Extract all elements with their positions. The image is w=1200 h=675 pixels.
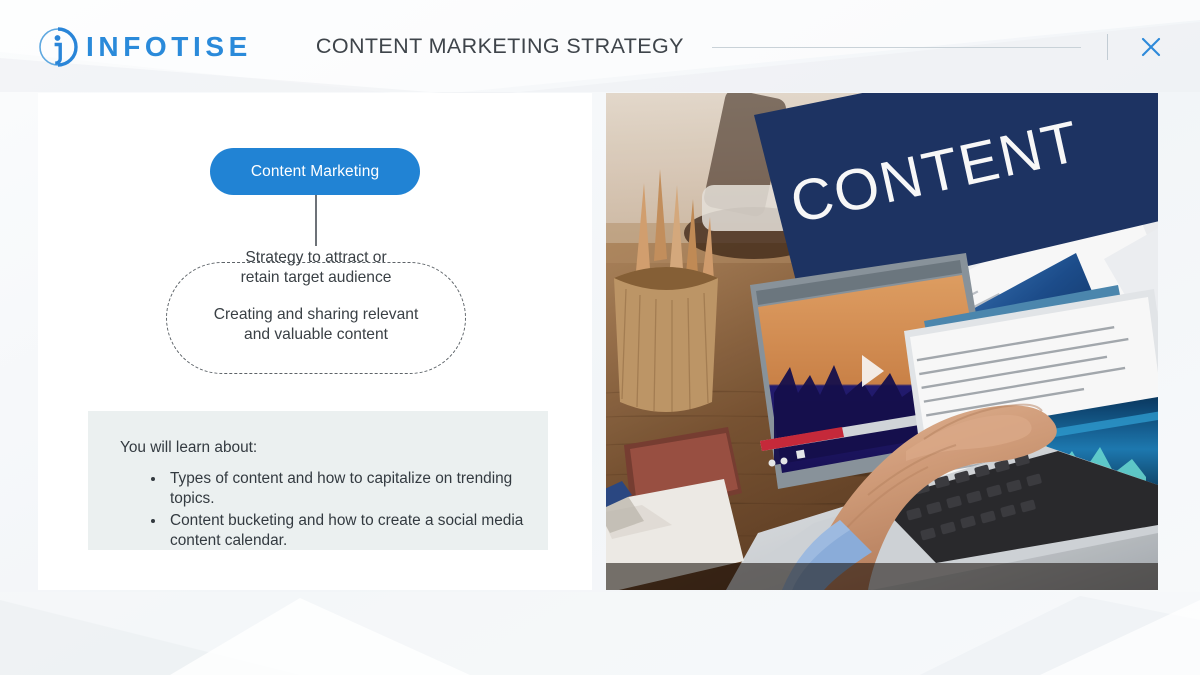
diagram-description: Strategy to attract or retain target aud… <box>166 248 466 345</box>
infotise-i-circle-icon <box>36 25 80 69</box>
laptop-desk-photo: CONTENT World Stock Market <box>606 93 1158 590</box>
slide-photo: CONTENT World Stock Market <box>606 93 1158 590</box>
content-marketing-pill[interactable]: Content Marketing <box>210 148 420 195</box>
brand-logo[interactable]: INFOTISE <box>36 25 252 69</box>
blob-line-3: Creating and sharing relevant <box>166 305 466 325</box>
learning-objectives-heading: You will learn about: <box>120 439 257 457</box>
blob-line-4: and valuable content <box>166 325 466 345</box>
learning-objectives-box: You will learn about: Types of content a… <box>88 411 548 550</box>
close-icon <box>1140 36 1162 58</box>
list-item: Content bucketing and how to create a so… <box>166 511 528 552</box>
header-divider-line <box>712 47 1081 48</box>
header-title: CONTENT MARKETING STRATEGY <box>316 34 684 59</box>
header-vertical-separator <box>1107 34 1108 60</box>
brand-name: INFOTISE <box>86 33 252 61</box>
diagram-connector-line <box>315 195 317 246</box>
slide-footer: INTRODUCTION TO CONTENT MARKETING ❮ BACK… <box>0 590 1200 675</box>
blob-line-2: retain target audience <box>166 268 466 288</box>
close-button[interactable] <box>1134 30 1168 64</box>
list-item: Types of content and how to capitalize o… <box>166 469 528 510</box>
learning-objectives-list: Types of content and how to capitalize o… <box>148 469 528 553</box>
slide-content-card: Content Marketing Strategy to attract or… <box>38 93 592 590</box>
app-header: INFOTISE CONTENT MARKETING STRATEGY <box>0 0 1200 93</box>
blob-line-1: Strategy to attract or <box>166 248 466 268</box>
